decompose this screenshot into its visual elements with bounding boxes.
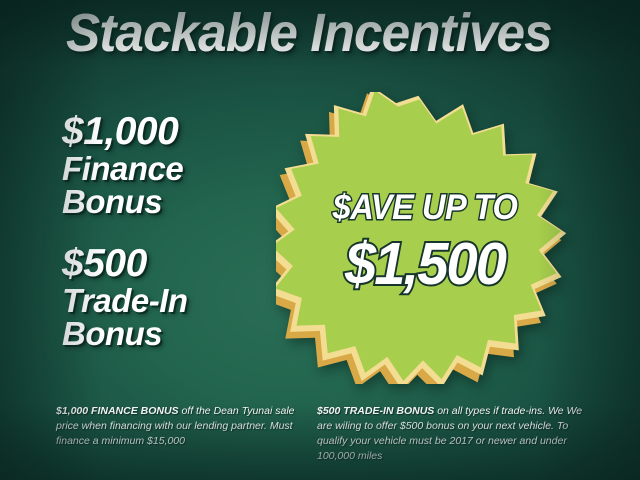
offer-finance-bonus: $1,000 Finance Bonus bbox=[62, 112, 183, 219]
offer-trade-line2: Trade-In bbox=[62, 284, 188, 318]
fineprint-finance-label: $1,000 FINANCE BONUS bbox=[56, 405, 179, 417]
offer-finance-line3: Bonus bbox=[62, 185, 183, 219]
fineprint-trade-label: $500 TRADE-IN BONUS bbox=[317, 405, 434, 417]
fineprint-trade-in: $500 TRADE-IN BONUS on all types if trad… bbox=[317, 404, 599, 464]
offer-finance-amount: $1,000 bbox=[62, 112, 183, 152]
offer-trade-amount: $500 bbox=[62, 244, 188, 284]
savings-starburst-badge: $AVE UP TO $1,500 bbox=[276, 92, 574, 384]
offer-trade-line3: Bonus bbox=[62, 317, 188, 351]
promo-banner: Stackable Incentives $1,000 Finance Bonu… bbox=[0, 0, 640, 480]
fineprint-finance: $1,000 FINANCE BONUS off the Dean Tyunai… bbox=[56, 404, 308, 449]
offer-trade-in-bonus: $500 Trade-In Bonus bbox=[62, 244, 188, 351]
page-title: Stackable Incentives bbox=[66, 2, 552, 64]
offer-finance-line2: Finance bbox=[62, 152, 183, 186]
